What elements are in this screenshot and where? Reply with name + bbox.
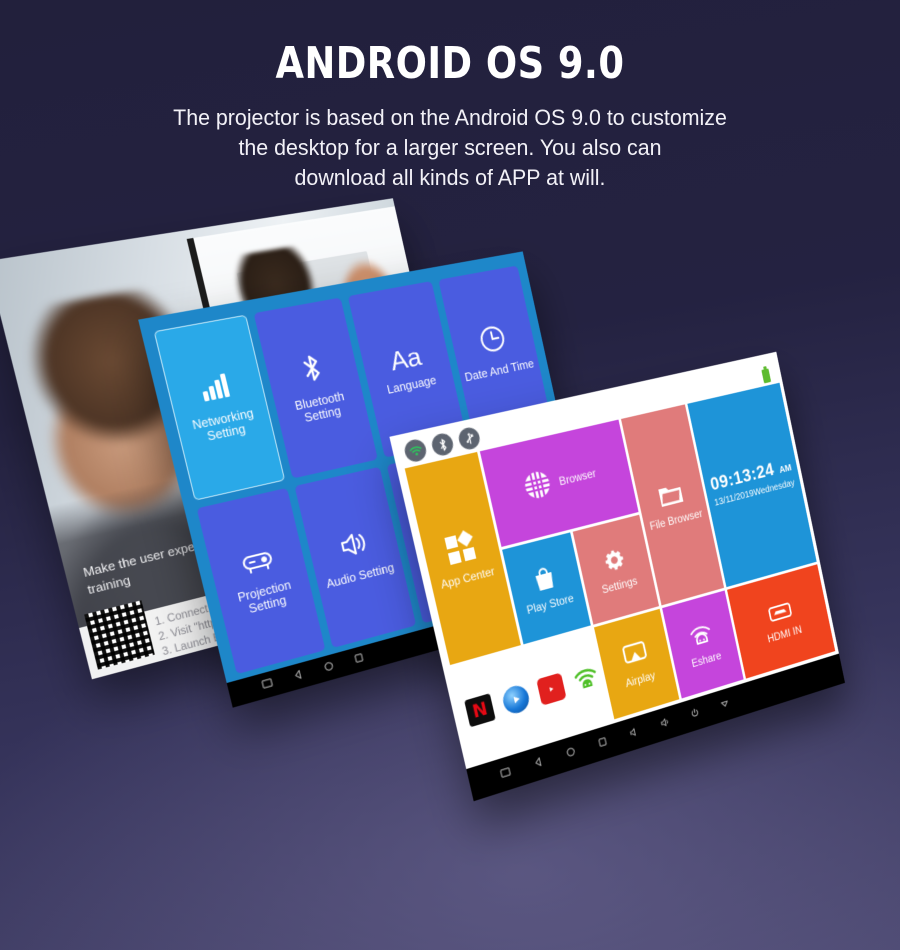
clock-meridiem: AM [778,463,792,477]
device-stage: E Make the user experience natural in pr… [0,0,900,950]
bluetooth-icon [297,352,327,391]
media-player-icon[interactable] [501,683,532,717]
home-icon[interactable] [323,660,336,676]
hdmi-icon [766,599,794,630]
gear-icon [600,545,628,579]
volume-down-icon[interactable] [628,726,640,742]
tile-label: Audio Setting [325,561,395,591]
shopping-bag-icon [531,563,559,598]
app-center-icon [442,528,482,573]
speaker-icon [336,528,371,566]
language-icon: Aa [388,343,424,375]
tile-label: File Browser [649,508,704,533]
airplay-icon [620,639,650,674]
qr-code-icon [84,600,155,669]
recents-icon[interactable] [597,736,609,752]
eshare-wifi-icon[interactable] [571,662,601,695]
projector-icon [239,546,276,582]
tile-label: App Center [440,566,496,591]
tile-label: Networking Setting [181,404,268,448]
tile-label: Language [386,374,438,397]
screenshot-icon[interactable] [499,766,512,782]
home-icon[interactable] [565,745,577,761]
back-icon[interactable] [532,756,545,772]
netflix-icon[interactable]: N [464,693,496,727]
tile-label: Play Store [526,593,575,617]
tile-label: Projection Setting [222,575,310,622]
youtube-icon[interactable] [536,672,566,705]
recents-icon[interactable] [353,652,366,668]
tile-label: Browser [558,468,597,488]
folder-icon [656,480,687,515]
clock-icon [477,323,509,361]
wifi-icon[interactable] [403,438,429,464]
collapse-icon[interactable] [719,697,730,712]
bluetooth-icon[interactable] [430,432,455,458]
tile-label: Date And Time [464,357,536,384]
tile-label: Bluetooth Setting [278,387,363,430]
usb-icon[interactable] [457,426,482,452]
globe-icon [520,466,556,509]
power-icon[interactable] [689,707,701,722]
volume-up-icon[interactable] [659,716,671,731]
back-icon[interactable] [292,668,305,684]
screenshot-icon[interactable] [261,677,275,693]
signal-bars-icon [198,372,235,409]
eshare-icon [687,620,716,654]
